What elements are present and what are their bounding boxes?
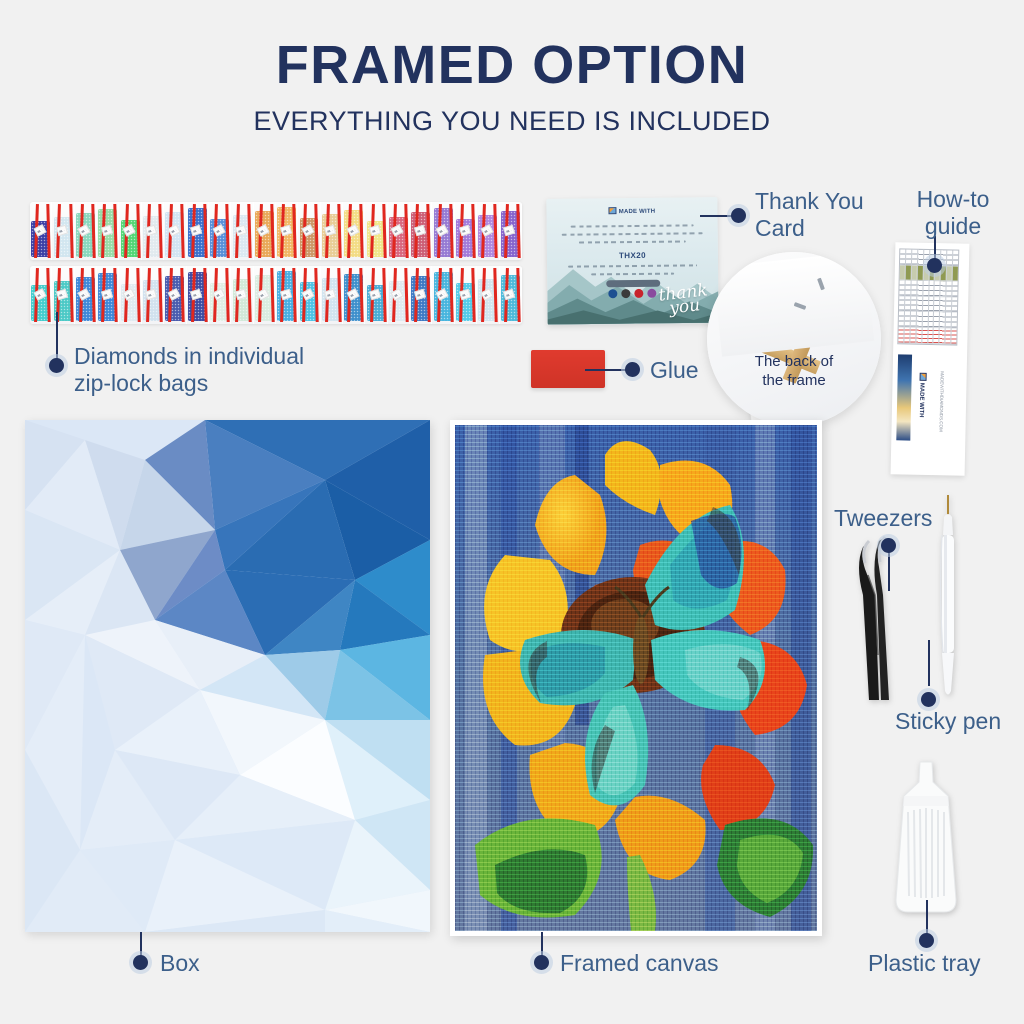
diamond-bag (164, 266, 186, 324)
zip-seal-edge (315, 204, 319, 258)
dot-glue (625, 362, 640, 377)
callout-glue: Glue (650, 357, 699, 384)
artwork-illustration (455, 425, 817, 931)
page-title: FRAMED OPTION (0, 34, 1024, 96)
chart-cell (929, 297, 934, 313)
chart-cell (951, 328, 956, 344)
chart-cell (952, 282, 957, 298)
chart-cell (911, 296, 916, 312)
chart-cell (916, 328, 921, 344)
dot-canvas (534, 955, 549, 970)
chart-cell (905, 281, 910, 297)
chart-cell (946, 297, 951, 313)
diamond-bag (455, 202, 477, 260)
chart-cell (934, 297, 939, 313)
leader-tray (926, 900, 928, 936)
diamond-bag (75, 202, 97, 260)
diamond-bag (343, 202, 365, 260)
diamond-bag (231, 202, 253, 260)
chart-cell (946, 313, 951, 329)
callout-thank-you-line1: Thank You (755, 188, 864, 215)
diamond-bag (298, 202, 320, 260)
leader-glue (585, 369, 630, 371)
callout-thank-you-card: Thank You Card (755, 188, 864, 242)
brand-text: MADE WITH (619, 209, 656, 215)
diamond-bag (410, 202, 432, 260)
callout-diamonds-line1: Diamonds in individual (74, 343, 304, 370)
chart-cell (946, 328, 951, 344)
chart-cell (900, 249, 905, 265)
discount-code: THX20 (547, 250, 718, 261)
diamond-painting-artwork (455, 425, 817, 931)
callout-box: Box (160, 950, 200, 977)
callout-tweezers-line1: Tweezers (834, 505, 932, 532)
diamond-bag (365, 202, 387, 260)
chart-cell (922, 328, 927, 344)
chart-cell (934, 328, 939, 344)
diamond-bag (500, 202, 522, 260)
zip-seal-edge (315, 268, 319, 322)
tweezers (855, 535, 903, 700)
chart-cell (906, 265, 911, 281)
dot-how-to (927, 258, 942, 273)
diamond-bag (432, 202, 454, 260)
page-subtitle: EVERYTHING YOU NEED IS INCLUDED (0, 106, 1024, 137)
diamond-bag (343, 266, 365, 324)
diamond-bag (142, 266, 164, 324)
guide-caption: MADEWITHDIAMONDS.COM (938, 371, 944, 432)
frame-back-bubble (707, 252, 881, 426)
diamond-bag (30, 266, 52, 324)
card-text-line-2 (562, 232, 702, 235)
chart-cell (911, 281, 916, 297)
diamond-bag (321, 202, 343, 260)
diamond-bag (97, 202, 119, 260)
how-to-guide: MADE WITH MADEWITHDIAMONDS.COM (891, 242, 970, 475)
callout-how-to-line2: guide (893, 213, 1013, 240)
thank-you-card-brand: MADE WITH (546, 206, 717, 216)
diamond-bag (365, 266, 387, 324)
chart-cell (917, 281, 922, 297)
callout-diamonds-line2: zip-lock bags (74, 370, 304, 397)
sticky-pen (935, 495, 961, 700)
chart-cell (918, 250, 923, 266)
diamond-bag (231, 266, 253, 324)
brand-mark-icon (920, 373, 927, 381)
leader-diamonds (56, 312, 58, 360)
callout-tray-line1: Plastic tray (868, 950, 980, 977)
diamond-bag (455, 266, 477, 324)
facebook-icon (608, 289, 617, 298)
thank-you-card: MADE WITH THX20 thank you (546, 197, 718, 325)
diamond-bag (254, 202, 276, 260)
chart-cell (940, 328, 945, 344)
chart-column (951, 250, 958, 344)
guide-brand-text: MADE WITH (918, 383, 925, 418)
framed-canvas (450, 420, 822, 936)
chart-cell (947, 250, 952, 266)
callout-diamonds: Diamonds in individual zip-lock bags (74, 343, 304, 397)
twitter-icon (621, 289, 630, 298)
zip-seal-edge (91, 204, 95, 258)
guide-preview-image (896, 354, 912, 440)
chart-cell (906, 249, 911, 265)
diamond-bag (30, 202, 52, 260)
leader-tweezers (888, 553, 890, 591)
chart-cell (934, 312, 939, 328)
chart-cell (923, 281, 928, 297)
diamond-bag (52, 202, 74, 260)
guide-brand: MADE WITH (918, 373, 927, 418)
diamond-bag (97, 266, 119, 324)
zip-seal-edge (337, 204, 341, 258)
dot-box (133, 955, 148, 970)
callout-plastic-tray: Plastic tray (868, 950, 980, 977)
callout-thank-you-line2: Card (755, 215, 864, 242)
chart-cell (904, 327, 909, 343)
chart-cell (905, 312, 910, 328)
chart-cell (928, 328, 933, 344)
diamond-bag (209, 266, 231, 324)
dot-diamonds (49, 358, 64, 373)
infographic-canvas: FRAMED OPTION EVERYTHING YOU NEED IS INC… (0, 0, 1024, 1024)
diamond-bag (164, 202, 186, 260)
chart-cell (900, 265, 905, 281)
diamond-bag (388, 202, 410, 260)
callout-glue-line1: Glue (650, 357, 699, 384)
chart-cell (941, 250, 946, 266)
callout-sticky-pen-line1: Sticky pen (895, 708, 1001, 735)
card-text-line-3 (579, 240, 685, 243)
diamond-bag (298, 266, 320, 324)
diamond-bag (388, 266, 410, 324)
chart-cell (923, 297, 928, 313)
callout-box-line1: Box (160, 950, 200, 977)
bubble-caption: The back of the frame (707, 353, 881, 391)
chart-cell (952, 297, 957, 313)
chart-cell (947, 282, 952, 298)
chart-cell (941, 281, 946, 297)
diamond-bag (276, 266, 298, 324)
chart-cell (910, 312, 915, 328)
chart-cell (953, 250, 958, 266)
product-box: MADEWITH DIAMONDS (25, 420, 430, 932)
diamond-bag (142, 202, 164, 260)
chart-cell (916, 312, 921, 328)
leader-thank-you (700, 215, 734, 217)
plastic-tray (876, 760, 976, 920)
thank-you-script: thank you (648, 283, 710, 318)
brand-mark-icon (609, 207, 617, 214)
box-geometric-pattern (25, 420, 430, 932)
callout-framed-canvas: Framed canvas (560, 950, 719, 977)
callout-canvas-line1: Framed canvas (560, 950, 719, 977)
diamond-bag (254, 266, 276, 324)
dot-sticky-pen (921, 692, 936, 707)
chart-cell (928, 312, 933, 328)
chart-cell (940, 297, 945, 313)
dot-thank-you (731, 208, 746, 223)
bubble-caption-line2: the frame (707, 372, 881, 391)
pinterest-icon (634, 289, 643, 298)
chart-cell (953, 266, 958, 282)
callout-how-to-line1: How-to (893, 186, 1013, 213)
diamond-bag (119, 266, 141, 324)
zip-seal-edge (337, 268, 341, 322)
diamond-bag (75, 266, 97, 324)
chart-cell (917, 265, 922, 281)
dot-tweezers (881, 538, 896, 553)
dot-tray (919, 933, 934, 948)
diamond-bag (276, 202, 298, 260)
zip-seal-edge (404, 204, 408, 258)
chart-cell (929, 281, 934, 297)
zip-seal-edge (404, 268, 408, 322)
diamond-bag (187, 266, 209, 324)
diamond-bag (432, 266, 454, 324)
diamond-bag (477, 266, 499, 324)
chart-cell (910, 328, 915, 344)
social-handle-pill (606, 280, 660, 288)
callout-sticky-pen: Sticky pen (895, 708, 1001, 735)
zip-seal-edge (91, 268, 95, 322)
diamond-bag (410, 266, 432, 324)
diamond-bag (187, 202, 209, 260)
chart-cell (905, 296, 910, 312)
chart-cell (911, 265, 916, 281)
leader-sticky-pen (928, 640, 930, 686)
chart-cell (952, 313, 957, 329)
chart-cell (899, 296, 904, 312)
diamond-bag (500, 266, 522, 324)
callout-how-to-guide: How-to guide (893, 186, 1013, 240)
diamond-bag (209, 202, 231, 260)
chart-cell (917, 296, 922, 312)
card-text-line-1 (571, 224, 694, 227)
chart-cell (898, 327, 903, 343)
diamond-bag-row-2 (30, 266, 522, 324)
chart-cell (899, 281, 904, 297)
bubble-caption-line1: The back of (707, 353, 881, 372)
callout-tweezers: Tweezers (834, 505, 932, 532)
diamond-bag (119, 202, 141, 260)
chart-cell (899, 312, 904, 328)
chart-cell (941, 266, 946, 282)
diamond-bag-row-1 (30, 202, 522, 260)
chart-cell (940, 313, 945, 329)
chart-cell (922, 312, 927, 328)
diamond-bag (477, 202, 499, 260)
diamond-bag (321, 266, 343, 324)
chart-cell (935, 281, 940, 297)
chart-cell (912, 250, 917, 266)
chart-cell (947, 266, 952, 282)
